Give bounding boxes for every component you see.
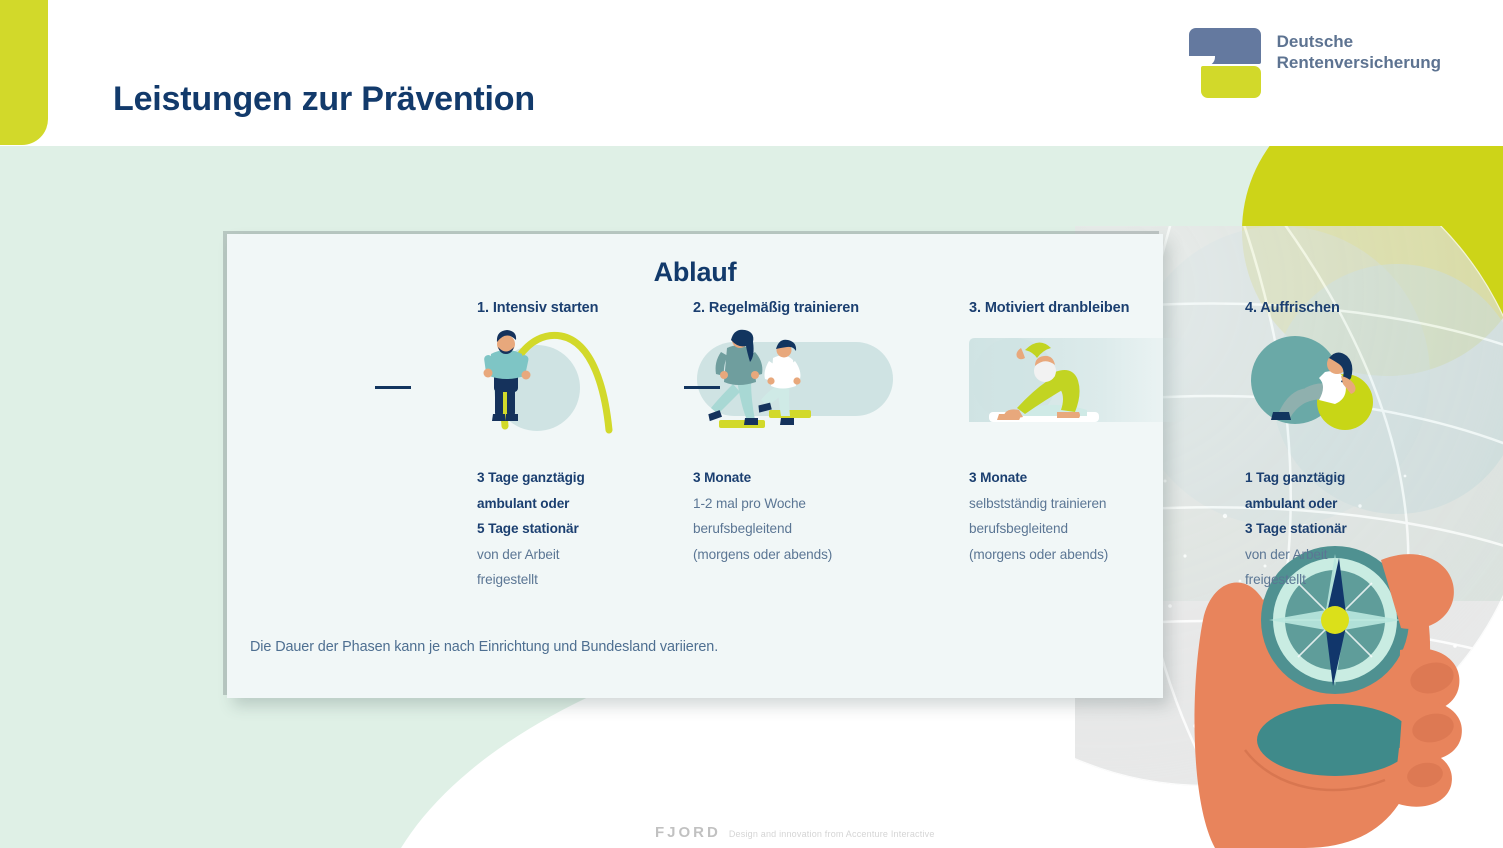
phase-3-line-4: (morgens oder abends)	[969, 542, 1199, 568]
slide-header: Leistungen zur Prävention Deutsche Rente…	[0, 0, 1503, 146]
ablauf-card: Ablauf 1. Intensiv starten	[227, 234, 1163, 698]
two-people-training-icon	[693, 328, 903, 438]
phase-column-4: 4. Auffrischen	[1245, 300, 1395, 316]
phase-column-3: 3. Motiviert dranbleiben	[969, 300, 1199, 316]
phase-3-line-1: 3 Monate	[969, 465, 1199, 491]
page-title: Leistungen zur Prävention	[113, 80, 535, 119]
phase-3-lines: 3 Monate selbstständig trainieren berufs…	[969, 465, 1199, 567]
phase-4-line-4: von der Arbeit	[1245, 542, 1395, 568]
phase-2-line-2: 1-2 mal pro Woche	[693, 491, 923, 517]
person-on-exercise-ball-icon	[1245, 328, 1395, 438]
phase-2-line-1: 3 Monate	[693, 465, 923, 491]
phase-1-line-2: ambulant oder	[477, 491, 667, 517]
phase-4-lines: 1 Tag ganztägig ambulant oder 3 Tage sta…	[1245, 465, 1395, 593]
phase-1-line-5: freigestellt	[477, 567, 667, 593]
brand-name: Deutsche Rentenversicherung	[1277, 28, 1441, 73]
phase-2-lines: 3 Monate 1-2 mal pro Woche berufsbegleit…	[693, 465, 923, 567]
phase-column-2: 2. Regelmäßig trainieren	[693, 300, 923, 316]
phase-4-line-2: ambulant oder	[1245, 491, 1395, 517]
watermark-tagline: Design and innovation from Accenture Int…	[729, 829, 935, 839]
phase-1-line-3: 5 Tage stationär	[477, 516, 667, 542]
watermark-brand: FJORD	[655, 824, 721, 841]
card-title: Ablauf	[227, 234, 1163, 288]
phase-1-line-1: 3 Tage ganztägig	[477, 465, 667, 491]
phase-4-line-1: 1 Tag ganztägig	[1245, 465, 1395, 491]
phase-connector-1-2	[375, 386, 411, 389]
drv-logo-icon	[1189, 28, 1261, 98]
phase-4-heading: 4. Auffrischen	[1245, 300, 1395, 316]
phase-3-heading: 3. Motiviert dranbleiben	[969, 300, 1199, 316]
phase-1-heading: 1. Intensiv starten	[477, 300, 667, 316]
logo-notch	[1189, 56, 1215, 66]
phase-1-line-4: von der Arbeit	[477, 542, 667, 568]
fjord-watermark: FJORD Design and innovation from Accentu…	[655, 824, 935, 841]
phase-3-line-2: selbstständig trainieren	[969, 491, 1199, 517]
brand-logo: Deutsche Rentenversicherung	[1189, 28, 1441, 98]
phase-2-line-3: berufsbegleitend	[693, 516, 923, 542]
phase-1-lines: 3 Tage ganztägig ambulant oder 5 Tage st…	[477, 465, 667, 593]
phase-connector-2-3	[684, 386, 720, 389]
person-stretching-icon	[969, 328, 1199, 438]
card-note: Die Dauer der Phasen kann je nach Einric…	[250, 639, 718, 655]
phase-2-heading: 2. Regelmäßig trainieren	[693, 300, 923, 316]
phase-column-1: 1. Intensiv starten	[477, 300, 667, 316]
battle-ropes-athlete-icon	[477, 328, 667, 438]
phase-3-line-3: berufsbegleitend	[969, 516, 1199, 542]
logo-bottom-shape	[1201, 66, 1261, 98]
slide: Leistungen zur Prävention Deutsche Rente…	[0, 0, 1503, 848]
phase-2-line-4: (morgens oder abends)	[693, 542, 923, 568]
phase-4-line-3: 3 Tage stationär	[1245, 516, 1395, 542]
phase-4-line-5: freigestellt	[1245, 567, 1395, 593]
header-accent-shape	[0, 0, 48, 145]
